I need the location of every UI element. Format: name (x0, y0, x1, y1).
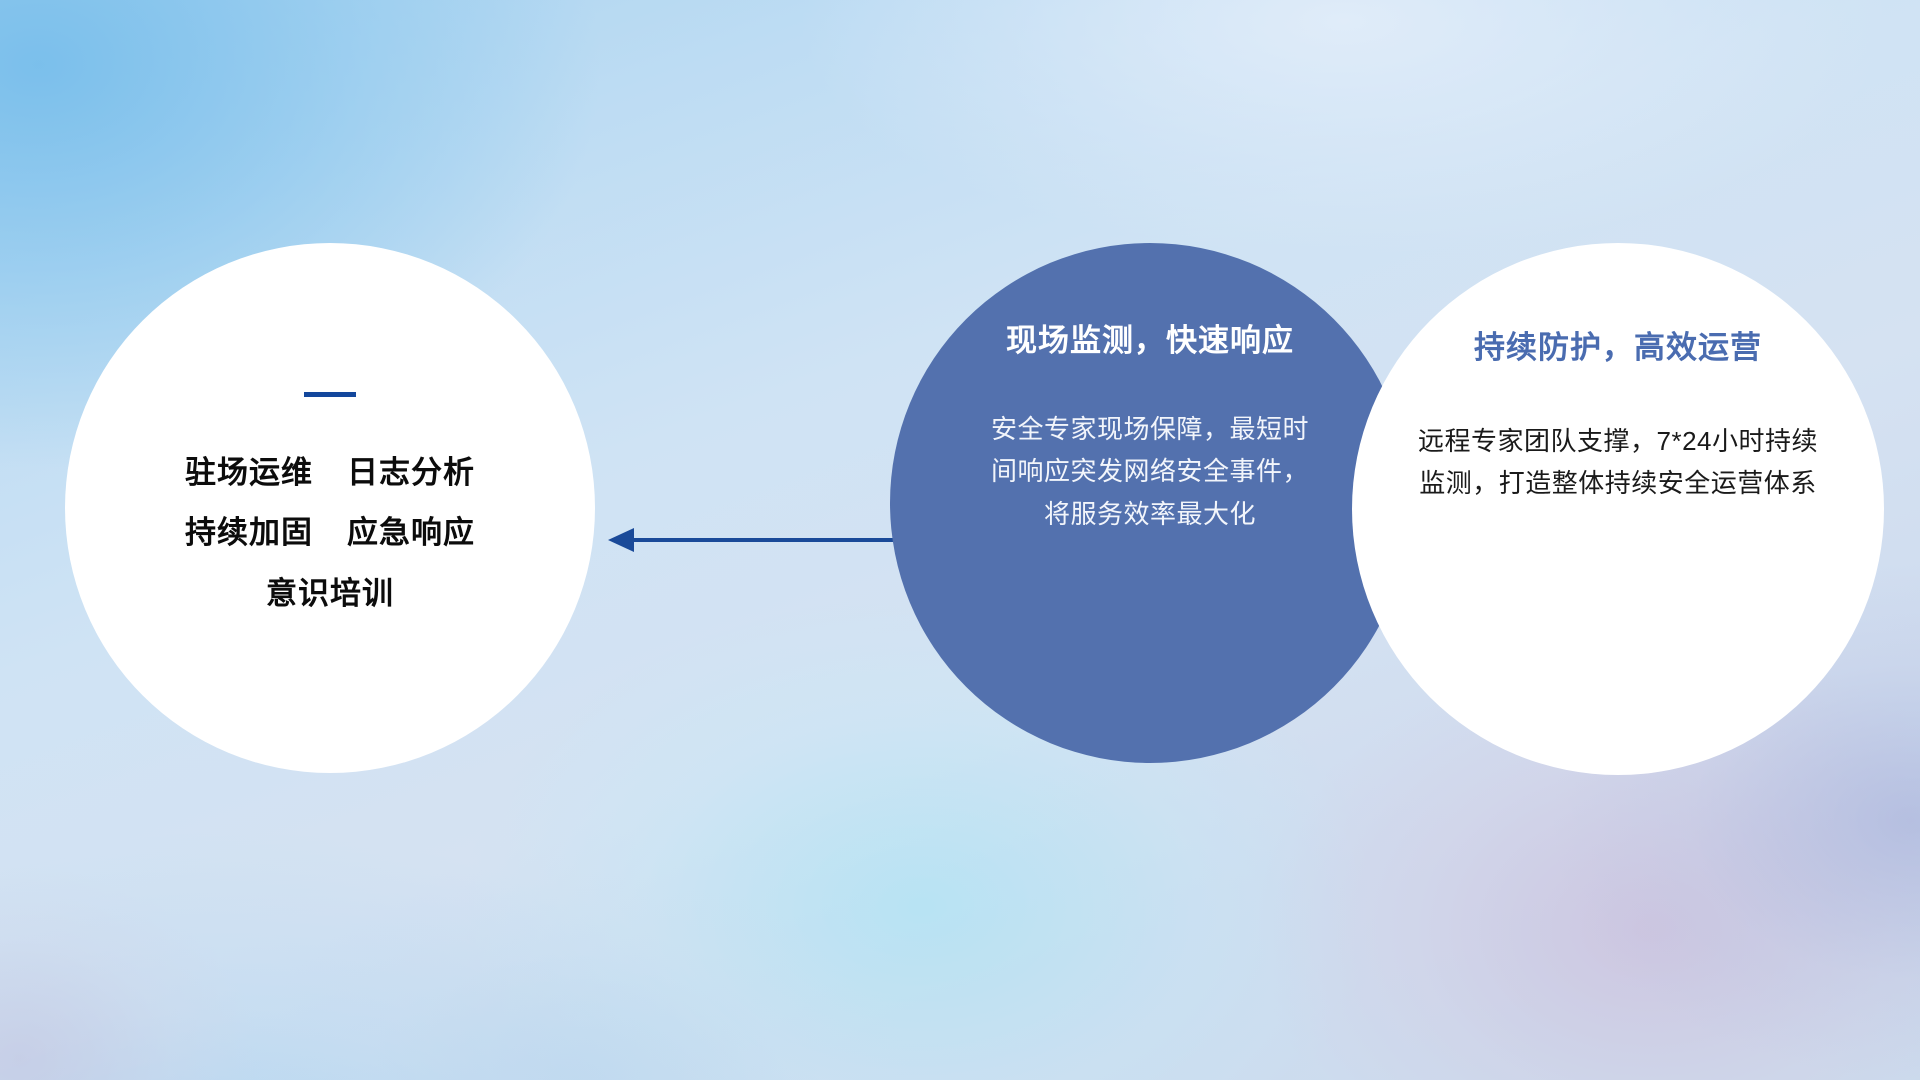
capabilities-circle[interactable]: 驻场运维 日志分析 持续加固 应急响应 意识培训 (65, 243, 595, 773)
capability-row: 意识培训 (185, 564, 475, 624)
capability-row: 驻场运维 日志分析 (185, 443, 475, 503)
onsite-monitoring-body: 安全专家现场保障，最短时间响应突发网络安全事件，将服务效率最大化 (990, 408, 1310, 534)
continuous-protection-circle[interactable]: 持续防护，高效运营 远程专家团队支撑，7*24小时持续监测，打造整体持续安全运营… (1352, 243, 1884, 775)
continuous-protection-title: 持续防护，高效运营 (1474, 328, 1762, 368)
capability-item: 意识培训 (266, 564, 394, 624)
capability-item: 持续加固 (185, 503, 313, 563)
capability-keyword-list: 驻场运维 日志分析 持续加固 应急响应 意识培训 (185, 443, 475, 624)
onsite-monitoring-circle[interactable]: 现场监测，快速响应 安全专家现场保障，最短时间响应突发网络安全事件，将服务效率最… (890, 243, 1410, 763)
continuous-protection-body: 远程专家团队支撑，7*24小时持续监测，打造整体持续安全运营体系 (1413, 420, 1823, 504)
capability-item: 驻场运维 (185, 443, 313, 503)
connector-arrow-left-icon (600, 500, 920, 580)
onsite-monitoring-title: 现场监测，快速响应 (1006, 321, 1294, 361)
slide-canvas: 驻场运维 日志分析 持续加固 应急响应 意识培训 现场监测，快速响应 安全专家现… (0, 0, 1920, 1080)
capability-row: 持续加固 应急响应 (185, 503, 475, 563)
capability-item: 日志分析 (347, 443, 475, 503)
capability-item: 应急响应 (347, 503, 475, 563)
divider-dash-icon (304, 392, 356, 397)
